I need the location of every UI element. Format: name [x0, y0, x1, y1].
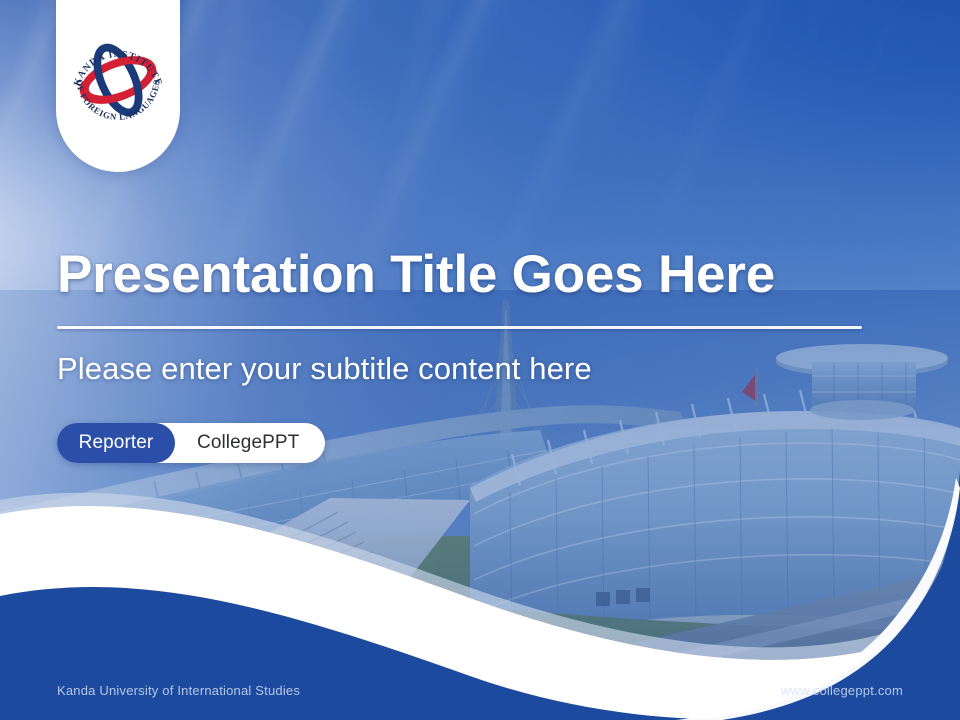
footer-institution: Kanda University of International Studie…	[57, 683, 300, 698]
reporter-badge-label: Reporter	[57, 423, 175, 463]
title-divider	[57, 326, 862, 329]
reporter-pill[interactable]: Reporter CollegePPT	[57, 423, 325, 463]
footer-website[interactable]: www.collegeppt.com	[781, 683, 903, 698]
reporter-name: CollegePPT	[197, 432, 299, 454]
page-title: Presentation Title Goes Here	[57, 247, 887, 303]
kanda-institute-logo-icon: KANDA INSTITUTE OF FOREIGN LANGUAGES	[66, 28, 170, 132]
presentation-slide: KANDA INSTITUTE OF FOREIGN LANGUAGES Pre…	[0, 0, 960, 720]
university-logo-shield: KANDA INSTITUTE OF FOREIGN LANGUAGES	[56, 0, 180, 172]
page-subtitle: Please enter your subtitle content here	[57, 351, 592, 387]
